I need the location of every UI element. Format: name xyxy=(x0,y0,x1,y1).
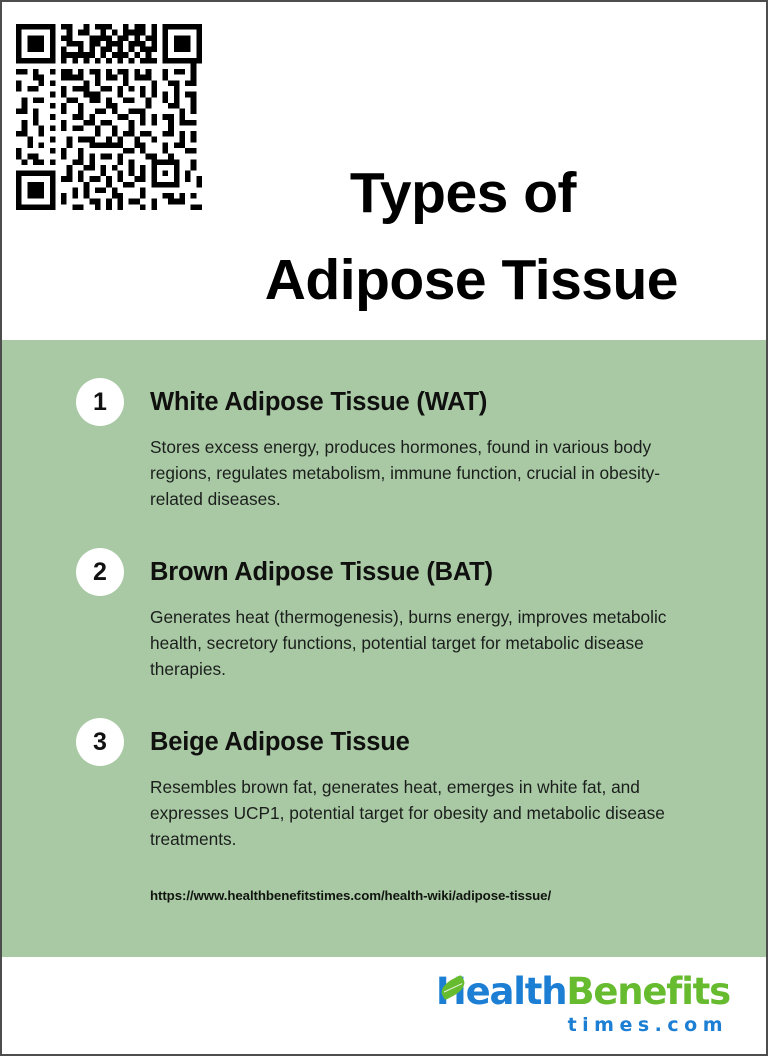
item-description: Resembles brown fat, generates heat, eme… xyxy=(150,774,695,852)
list-item: 3 Beige Adipose Tissue Resembles brown f… xyxy=(2,718,766,852)
item-number-badge: 2 xyxy=(76,548,124,596)
item-content: Beige Adipose Tissue Resembles brown fat… xyxy=(150,718,706,852)
item-title: Brown Adipose Tissue (BAT) xyxy=(150,548,706,596)
source-url-link[interactable]: https://www.healthbenefitstimes.com/heal… xyxy=(2,888,766,903)
infographic-poster: Types of Adipose Tissue 1 White Adipose … xyxy=(0,0,768,1056)
poster-footer: HealthBenefits times.com xyxy=(2,957,766,1054)
logo-word-benefits: Benefits xyxy=(566,970,730,1013)
item-number-badge: 3 xyxy=(76,718,124,766)
list-item: 2 Brown Adipose Tissue (BAT) Generates h… xyxy=(2,548,766,682)
item-description: Generates heat (thermogenesis), burns en… xyxy=(150,604,695,682)
item-title: White Adipose Tissue (WAT) xyxy=(150,378,706,426)
content-band: 1 White Adipose Tissue (WAT) Stores exce… xyxy=(2,340,766,957)
item-content: Brown Adipose Tissue (BAT) Generates hea… xyxy=(150,548,706,682)
brand-logo[interactable]: HealthBenefits times.com xyxy=(436,973,730,1035)
item-description: Stores excess energy, produces hormones,… xyxy=(150,434,695,512)
page-title: Types of Adipose Tissue xyxy=(2,150,740,323)
item-content: White Adipose Tissue (WAT) Stores excess… xyxy=(150,378,706,512)
title-line-2: Adipose Tissue xyxy=(2,237,740,324)
title-line-1: Types of xyxy=(2,150,740,237)
logo-domain: times.com xyxy=(436,1016,730,1035)
item-title: Beige Adipose Tissue xyxy=(150,718,706,766)
list-item: 1 White Adipose Tissue (WAT) Stores exce… xyxy=(2,378,766,512)
item-number-badge: 1 xyxy=(76,378,124,426)
logo-wordmark: HealthBenefits xyxy=(436,973,730,1010)
poster-header: Types of Adipose Tissue xyxy=(2,2,766,340)
